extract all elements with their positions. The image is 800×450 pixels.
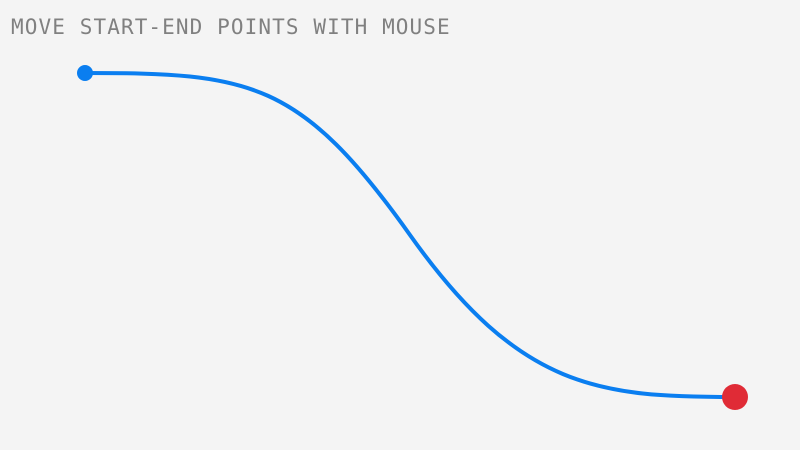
end-point-drag-handle[interactable] xyxy=(714,376,756,418)
start-point-drag-handle[interactable] xyxy=(69,57,101,89)
curve-canvas-svg xyxy=(0,0,800,450)
curve-editor-canvas[interactable]: MOVE START-END POINTS WITH MOUSE xyxy=(0,0,800,450)
bezier-curve-path xyxy=(85,73,735,397)
page-title: MOVE START-END POINTS WITH MOUSE xyxy=(11,14,451,40)
